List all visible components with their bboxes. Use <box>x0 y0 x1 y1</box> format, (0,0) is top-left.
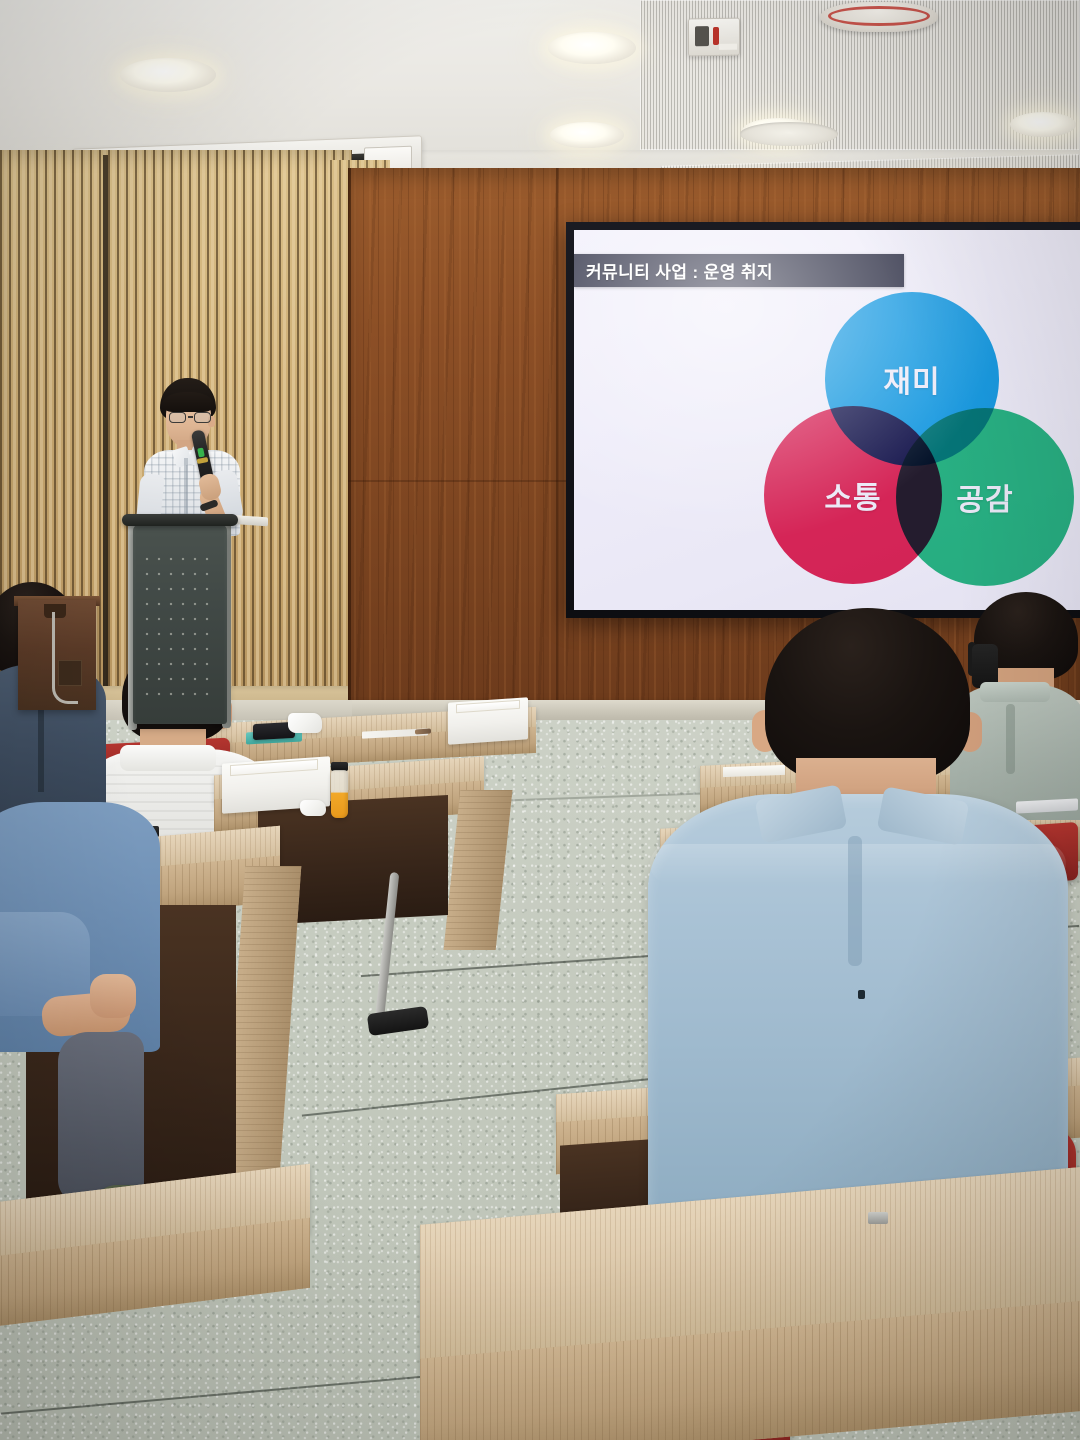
walnut-seam <box>556 168 558 708</box>
ceiling-downlight <box>120 58 216 92</box>
venn-label-gonggam: 공감 <box>956 475 1013 519</box>
ceiling-downlight <box>550 122 624 148</box>
fire-alarm-ring <box>828 6 930 26</box>
projection-screen[interactable]: 커뮤니티 사업 : 운영 취지 재미 소통 공감 <box>574 230 1080 610</box>
slide-title-bar: 커뮤니티 사업 : 운영 취지 <box>574 254 904 287</box>
lens-left <box>169 412 186 423</box>
ceiling-downlight <box>1010 112 1076 137</box>
hair-fringe <box>162 392 214 412</box>
attendee-far-left-front <box>0 762 170 1052</box>
detector-vent <box>695 26 709 46</box>
seminar-room-photo: 커뮤니티 사업 : 운영 취지 재미 소통 공감 <box>0 0 1080 1440</box>
ceiling-speaker <box>740 122 838 146</box>
walnut-seam <box>348 168 351 708</box>
desk-clip <box>868 1212 888 1224</box>
venn-label-sotong: 소통 <box>824 473 881 517</box>
detector-label <box>719 44 737 50</box>
cable <box>52 612 78 704</box>
hand <box>90 974 136 1018</box>
slide-title-text: 커뮤니티 사업 : 운영 취지 <box>574 258 773 283</box>
attendee-trousers <box>58 1032 144 1204</box>
glasses-bridge <box>188 416 193 418</box>
podium-top-rail <box>122 514 238 526</box>
hair <box>765 608 970 783</box>
venn-circle-green: 공감 <box>896 408 1074 586</box>
detector-led <box>713 27 719 45</box>
podium-perforation <box>145 556 215 706</box>
ceiling-downlight <box>548 32 636 64</box>
lens-right <box>194 412 211 423</box>
venn-label-jaemi: 재미 <box>883 357 940 401</box>
shirt-mark <box>858 990 865 999</box>
attendee-foreground <box>640 608 1080 1228</box>
pen[interactable] <box>415 729 431 735</box>
shirt-pleat <box>848 836 862 966</box>
orange-juice-bottle[interactable] <box>331 770 348 818</box>
eyeglasses-icon <box>169 411 211 423</box>
tissue <box>288 713 322 733</box>
smoke-detector <box>688 18 740 57</box>
tissue <box>300 800 326 816</box>
